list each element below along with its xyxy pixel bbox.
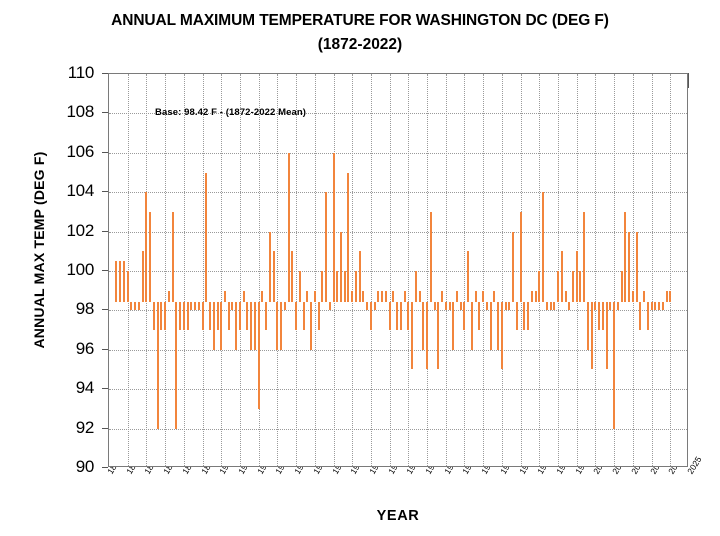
- bar: [523, 302, 525, 330]
- bar: [265, 302, 267, 330]
- bar: [392, 291, 394, 302]
- gridline-vertical: [539, 74, 540, 466]
- bar: [624, 212, 626, 302]
- bar: [325, 192, 327, 302]
- bar: [145, 192, 147, 302]
- bar: [594, 302, 596, 310]
- bar: [639, 302, 641, 330]
- bar: [318, 302, 320, 330]
- bar: [568, 302, 570, 310]
- gridline-vertical: [277, 74, 278, 466]
- bar: [183, 302, 185, 330]
- y-tick-label: 110: [48, 64, 94, 81]
- gridline-horizontal: [109, 429, 687, 430]
- bar: [250, 302, 252, 350]
- bar: [434, 302, 436, 310]
- bar: [209, 302, 211, 330]
- bar: [591, 302, 593, 369]
- bar: [314, 291, 316, 302]
- gridline-vertical: [652, 74, 653, 466]
- bar: [351, 291, 353, 302]
- gridline-vertical: [483, 74, 484, 466]
- gridline-vertical: [390, 74, 391, 466]
- gridline-vertical: [165, 74, 166, 466]
- bar: [187, 302, 189, 330]
- bar: [175, 302, 177, 428]
- gridline-vertical: [128, 74, 129, 466]
- bar: [235, 302, 237, 350]
- bar: [478, 302, 480, 330]
- bar: [501, 302, 503, 369]
- bar: [598, 302, 600, 330]
- bar: [381, 291, 383, 302]
- gridline-vertical: [595, 74, 596, 466]
- chart-figure: ANNUAL MAXIMUM TEMPERATURE FOR WASHINGTO…: [0, 0, 720, 536]
- bar: [205, 173, 207, 303]
- bar: [557, 271, 559, 302]
- y-tick-label: 106: [48, 143, 94, 160]
- bar: [333, 153, 335, 302]
- bar: [411, 302, 413, 369]
- bar: [344, 271, 346, 302]
- bar: [224, 291, 226, 302]
- bar: [329, 302, 331, 310]
- bar: [246, 302, 248, 330]
- bar: [658, 302, 660, 310]
- bar: [366, 302, 368, 310]
- bar: [239, 302, 241, 330]
- bar: [396, 302, 398, 330]
- bar: [471, 302, 473, 350]
- bar: [621, 271, 623, 302]
- bar: [460, 302, 462, 310]
- bar: [280, 302, 282, 350]
- bar: [276, 302, 278, 350]
- bar: [497, 302, 499, 350]
- bar: [362, 291, 364, 302]
- gridline-horizontal: [109, 271, 687, 272]
- gridline-vertical: [184, 74, 185, 466]
- gridline-vertical: [502, 74, 503, 466]
- chart-subtitle: (1872-2022): [0, 34, 720, 56]
- y-tick-label: 104: [48, 182, 94, 199]
- bar: [475, 291, 477, 302]
- bar: [505, 302, 507, 310]
- bar: [284, 302, 286, 310]
- bar: [602, 302, 604, 330]
- bar: [553, 302, 555, 310]
- bar: [231, 302, 233, 310]
- bar: [527, 302, 529, 330]
- bar: [198, 302, 200, 310]
- bar: [164, 302, 166, 330]
- bar: [374, 302, 376, 310]
- bar: [172, 212, 174, 302]
- gridline-horizontal: [109, 153, 687, 154]
- bar: [456, 291, 458, 302]
- bar: [490, 302, 492, 350]
- y-tick-label: 100: [48, 261, 94, 278]
- bar: [202, 302, 204, 330]
- gridline-vertical: [408, 74, 409, 466]
- gridline-horizontal: [109, 350, 687, 351]
- bar: [149, 212, 151, 302]
- chart-title: ANNUAL MAXIMUM TEMPERATURE FOR WASHINGTO…: [0, 10, 720, 32]
- bar: [168, 291, 170, 302]
- plot-area: [108, 73, 688, 467]
- bar: [299, 271, 301, 302]
- bar: [662, 302, 664, 310]
- bar: [493, 291, 495, 302]
- bar: [579, 271, 581, 302]
- bar: [119, 261, 121, 302]
- bar: [123, 261, 125, 302]
- bar: [445, 302, 447, 310]
- bar: [422, 302, 424, 350]
- bar: [587, 302, 589, 350]
- x-tick-mark: [688, 73, 689, 88]
- bar: [666, 291, 668, 302]
- bar: [288, 153, 290, 302]
- bar: [669, 291, 671, 302]
- gridline-vertical: [427, 74, 428, 466]
- bar: [142, 251, 144, 302]
- bar: [134, 302, 136, 310]
- bar: [254, 302, 256, 350]
- bar: [377, 291, 379, 302]
- bar: [486, 302, 488, 310]
- bar: [273, 251, 275, 302]
- bar: [452, 302, 454, 350]
- bar: [576, 251, 578, 302]
- bar: [449, 302, 451, 310]
- bar: [127, 271, 129, 302]
- bar: [310, 302, 312, 350]
- y-tick-label: 102: [48, 222, 94, 239]
- gridline-vertical: [240, 74, 241, 466]
- bar: [179, 302, 181, 330]
- y-tick-label: 90: [48, 458, 94, 475]
- bar: [213, 302, 215, 350]
- bar: [419, 291, 421, 302]
- bar: [138, 302, 140, 310]
- gridline-vertical: [203, 74, 204, 466]
- bar: [430, 212, 432, 302]
- bar: [426, 302, 428, 369]
- bar: [115, 261, 117, 302]
- gridline-horizontal: [109, 232, 687, 233]
- gridline-horizontal: [109, 389, 687, 390]
- bar: [531, 291, 533, 302]
- bar: [617, 302, 619, 310]
- bar: [482, 291, 484, 302]
- bar: [370, 302, 372, 330]
- gridline-vertical: [464, 74, 465, 466]
- bar: [437, 302, 439, 369]
- bar: [550, 302, 552, 310]
- bar: [355, 271, 357, 302]
- bar: [306, 291, 308, 302]
- gridline-horizontal: [109, 192, 687, 193]
- bar: [512, 232, 514, 303]
- bar: [606, 302, 608, 369]
- gridline-vertical: [446, 74, 447, 466]
- gridline-vertical: [371, 74, 372, 466]
- bar: [389, 302, 391, 330]
- bar: [463, 302, 465, 330]
- y-tick-label: 98: [48, 300, 94, 317]
- bar: [613, 302, 615, 428]
- gridline-vertical: [670, 74, 671, 466]
- bar: [295, 302, 297, 330]
- bar: [508, 302, 510, 310]
- bar: [404, 291, 406, 302]
- bar: [643, 291, 645, 302]
- baseline-annotation: Base: 98.42 F - (1872-2022 Mean): [155, 107, 306, 118]
- bar: [400, 302, 402, 330]
- bar: [542, 192, 544, 302]
- bar: [520, 212, 522, 302]
- bar: [336, 271, 338, 302]
- bar: [636, 232, 638, 303]
- bar: [647, 302, 649, 330]
- y-tick-label: 92: [48, 419, 94, 436]
- bar: [190, 302, 192, 310]
- bar: [654, 302, 656, 310]
- bar: [157, 302, 159, 428]
- bar: [565, 291, 567, 302]
- x-tick-label: 2025: [686, 455, 703, 475]
- x-axis-title: YEAR: [108, 508, 688, 524]
- bar: [261, 291, 263, 302]
- bar: [535, 291, 537, 302]
- gridline-vertical: [315, 74, 316, 466]
- bar: [291, 251, 293, 302]
- bar: [130, 302, 132, 310]
- gridline-vertical: [633, 74, 634, 466]
- bar: [385, 291, 387, 302]
- bar: [217, 302, 219, 330]
- bar: [632, 291, 634, 302]
- bar: [572, 271, 574, 302]
- bar: [340, 232, 342, 303]
- gridline-vertical: [352, 74, 353, 466]
- bar: [651, 302, 653, 310]
- bar: [467, 251, 469, 302]
- bar: [321, 271, 323, 302]
- bar: [441, 291, 443, 302]
- bar: [160, 302, 162, 330]
- bar: [516, 302, 518, 330]
- bar: [583, 212, 585, 302]
- bar: [415, 271, 417, 302]
- y-tick-label: 108: [48, 103, 94, 120]
- bar: [609, 302, 611, 310]
- bar: [153, 302, 155, 330]
- gridline-vertical: [558, 74, 559, 466]
- bar: [546, 302, 548, 310]
- bar: [194, 302, 196, 310]
- bar: [228, 302, 230, 330]
- bar: [538, 271, 540, 302]
- bar: [628, 232, 630, 303]
- bar: [561, 251, 563, 302]
- bar: [407, 302, 409, 330]
- bar: [303, 302, 305, 330]
- y-tick-label: 94: [48, 379, 94, 396]
- bar: [258, 302, 260, 409]
- y-tick-label: 96: [48, 340, 94, 357]
- bar: [220, 302, 222, 350]
- gridline-vertical: [221, 74, 222, 466]
- bar: [347, 173, 349, 303]
- bar: [243, 291, 245, 302]
- bar: [269, 232, 271, 303]
- bar: [359, 251, 361, 302]
- gridline-vertical: [296, 74, 297, 466]
